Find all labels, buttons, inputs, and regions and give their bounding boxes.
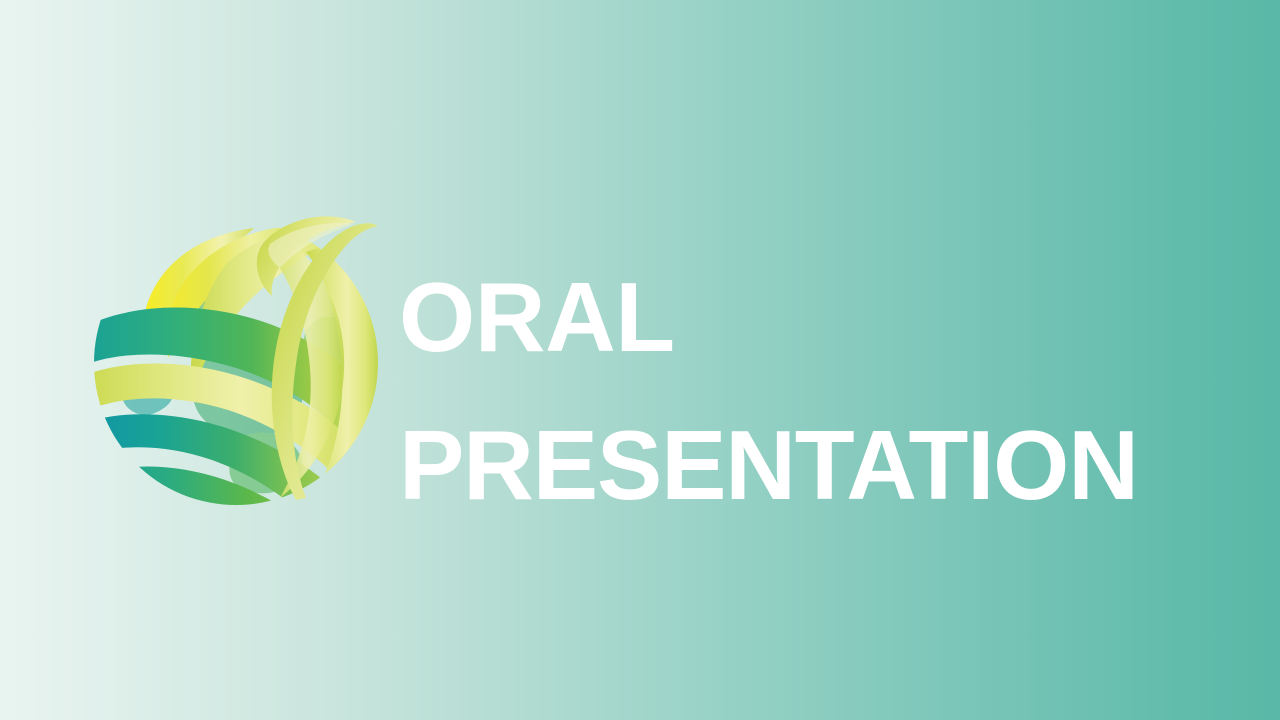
logo-svg (88, 200, 388, 525)
slide-title-block: ORAL PRESENTATION (399, 243, 1219, 539)
presentation-slide: ORAL PRESENTATION (0, 0, 1280, 720)
ribbon-band-5 (132, 512, 316, 525)
page-title-line-2: PRESENTATION (399, 391, 1219, 539)
spiral-globe-leaf-logo (88, 200, 388, 525)
page-title-line-1: ORAL (399, 243, 1219, 391)
